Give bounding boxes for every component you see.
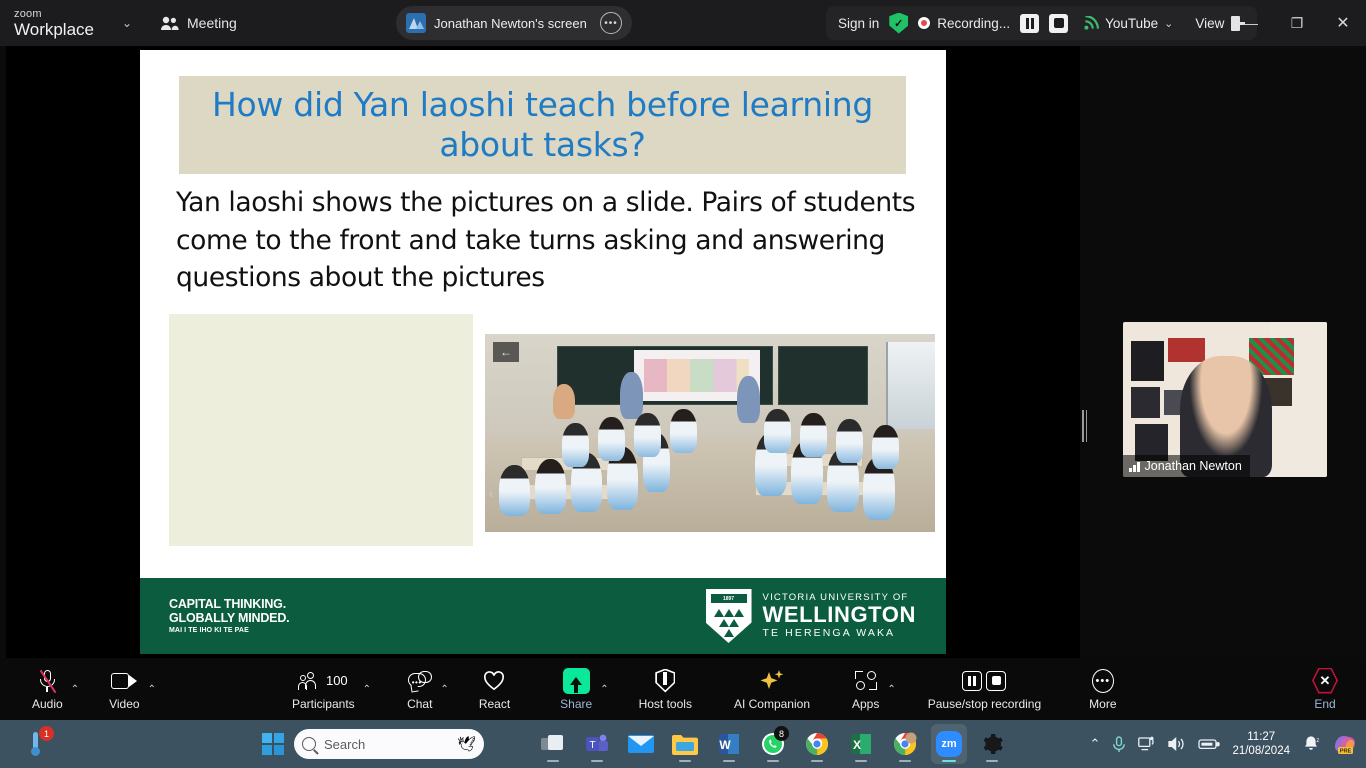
view-label: View: [1195, 16, 1224, 31]
whatsapp-badge: 8: [774, 726, 789, 741]
react-label: React: [479, 697, 510, 711]
windows-taskbar: 1 Search 🕊: [0, 720, 1366, 768]
youtube-label: YouTube: [1105, 16, 1158, 31]
classroom-photo: ← ‹: [485, 334, 935, 532]
clock-date: 21/08/2024: [1232, 745, 1290, 757]
taskbar-search-box[interactable]: Search 🕊: [294, 729, 484, 759]
clock-time: 11:27: [1247, 731, 1275, 743]
svg-text:T: T: [589, 740, 595, 751]
system-tray: ⌃: [1090, 730, 1358, 759]
taskbar-start-and-search: Search 🕊: [262, 729, 484, 759]
participants-options-chevron-icon[interactable]: ⌃: [359, 658, 375, 720]
end-x-glyph: ✕: [1320, 673, 1331, 689]
panel-drag-handle[interactable]: [1082, 410, 1088, 442]
excel-icon: X: [849, 732, 873, 756]
video-options-chevron-icon[interactable]: ⌃: [144, 658, 160, 720]
chat-button[interactable]: ••• Chat: [403, 658, 436, 720]
react-button[interactable]: React: [475, 658, 514, 720]
pause-recording-button[interactable]: [1020, 14, 1039, 33]
video-label: Video: [109, 697, 139, 711]
zoom-control-toolbar: Audio ⌃ Video ⌃ 100 Participants ⌃ ••• C…: [0, 658, 1366, 720]
audio-options-chevron-icon[interactable]: ⌃: [67, 658, 83, 720]
zoom-title-bar: zoom Workplace ⌄ Meeting Jonathan Newton…: [0, 0, 1366, 46]
shared-screen-region[interactable]: How did Yan laoshi teach before learning…: [6, 46, 1080, 658]
crest-year: 1897: [710, 593, 748, 604]
footer-tagline: CAPITAL THINKING. GLOBALLY MINDED. MAI I…: [169, 598, 289, 635]
chrome-profile-icon: [893, 732, 917, 756]
more-label: More: [1089, 697, 1116, 711]
start-button-icon[interactable]: [262, 733, 284, 755]
pause-stop-recording-icon: [962, 668, 1006, 694]
end-call-icon: ✕: [1312, 668, 1338, 694]
chevron-down-icon: ⌄: [1164, 17, 1173, 30]
classroom-photo-image: [485, 334, 935, 532]
record-dot-icon: [918, 17, 930, 29]
university-crest-icon: 1897: [706, 589, 752, 643]
photo-back-arrow-icon[interactable]: ←: [493, 342, 519, 362]
audio-button[interactable]: Audio: [28, 658, 67, 720]
security-shield-icon[interactable]: ✓: [889, 13, 908, 34]
meeting-label: Meeting: [187, 15, 237, 31]
teams-icon: T: [585, 732, 609, 756]
pause-stop-recording-label: Pause/stop recording: [928, 697, 1041, 711]
participants-icon: 100: [299, 668, 348, 694]
chevron-down-icon[interactable]: ⌄: [116, 10, 138, 36]
participant-name-badge: Jonathan Newton: [1123, 455, 1250, 477]
copilot-label: PRE: [1340, 749, 1352, 755]
share-thumbnail-icon: [406, 13, 426, 33]
apps-options-chevron-icon[interactable]: ⌃: [883, 658, 899, 720]
taskbar-app-task-view[interactable]: [535, 724, 571, 764]
audio-label: Audio: [32, 697, 63, 711]
presentation-slide: How did Yan laoshi teach before learning…: [140, 50, 946, 654]
end-label: End: [1314, 697, 1335, 711]
battery-icon[interactable]: [1198, 737, 1220, 751]
weather-widget-icon[interactable]: 1: [18, 727, 52, 761]
zoom-brand-line2: Workplace: [14, 21, 94, 38]
chrome-icon: [805, 732, 829, 756]
apps-button[interactable]: Apps: [848, 658, 883, 720]
signal-strength-icon: [1129, 461, 1140, 472]
shield-icon: [655, 668, 675, 694]
people-icon: [160, 16, 179, 31]
host-tools-label: Host tools: [639, 697, 692, 711]
gear-icon: [980, 732, 1004, 756]
slide-title-band: How did Yan laoshi teach before learning…: [179, 76, 906, 174]
taskbar-app-settings[interactable]: [975, 724, 1009, 764]
zoom-app-icon: zm: [936, 731, 962, 757]
share-options-chevron-icon[interactable]: ⌃: [596, 658, 612, 720]
network-icon[interactable]: [1138, 736, 1156, 752]
apps-icon: [854, 668, 878, 694]
svg-text:z: z: [1316, 738, 1319, 744]
screen-share-pill[interactable]: Jonathan Newton's screen •••: [396, 6, 632, 40]
titlebar-status-group: Sign in ✓ Recording... YouTube ⌄ View: [826, 6, 1257, 40]
task-view-icon: [541, 734, 565, 754]
slide-body-text: Yan laoshi shows the pictures on a slide…: [176, 184, 921, 297]
tagline-line3: MAI I TE IHO KI TE PAE: [169, 627, 289, 635]
pause-icon: [962, 671, 982, 691]
taskbar-clock[interactable]: 11:27 21/08/2024: [1232, 730, 1290, 759]
more-options-icon[interactable]: •••: [600, 12, 622, 34]
word-icon: W: [717, 732, 741, 756]
sparkles-icon: [759, 668, 785, 694]
chat-options-chevron-icon[interactable]: ⌃: [436, 658, 452, 720]
participant-video-thumbnail[interactable]: Jonathan Newton: [1123, 322, 1327, 477]
tagline-line2: GLOBALLY MINDED.: [169, 612, 289, 626]
zoom-logo: zoom Workplace: [14, 9, 94, 38]
broadcast-icon: [1084, 16, 1099, 30]
maximize-button[interactable]: ❐: [1274, 0, 1320, 46]
share-screen-button[interactable]: Share: [556, 658, 596, 720]
taskbar-app-zoom[interactable]: zm: [931, 724, 967, 764]
chat-dots: •••: [412, 678, 422, 687]
minimize-button[interactable]: —: [1228, 0, 1274, 46]
slide-footer: CAPITAL THINKING. GLOBALLY MINDED. MAI I…: [140, 578, 946, 654]
university-logo: 1897 VICTORIA UNIVERSITY OF WELLINGTON T…: [706, 589, 916, 643]
chat-label: Chat: [407, 697, 432, 711]
participants-count: 100: [326, 673, 348, 688]
search-icon: [302, 737, 316, 751]
tagline-line1: CAPITAL THINKING.: [169, 598, 289, 612]
ai-companion-button[interactable]: AI Companion: [730, 658, 814, 720]
host-tools-button[interactable]: Host tools: [635, 658, 696, 720]
share-label: Share: [560, 697, 592, 711]
camera-icon: [111, 668, 137, 694]
recording-status: Recording...: [918, 16, 1010, 31]
meeting-stage: How did Yan laoshi teach before learning…: [0, 46, 1366, 658]
volume-icon[interactable]: [1168, 736, 1186, 752]
share-pill-label: Jonathan Newton's screen: [434, 16, 592, 31]
microphone-icon[interactable]: [1112, 736, 1126, 753]
search-placeholder: Search: [324, 737, 449, 752]
participants-button[interactable]: 100 Participants: [288, 658, 359, 720]
stop-icon: [986, 671, 1006, 691]
close-button[interactable]: ✕: [1320, 0, 1366, 46]
taskbar-app-list: T W: [535, 724, 967, 764]
slide-title: How did Yan laoshi teach before learning…: [179, 85, 906, 166]
taskbar-app-chrome-profile[interactable]: [887, 724, 923, 764]
recording-label: Recording...: [937, 16, 1010, 31]
more-button[interactable]: ••• More: [1085, 658, 1120, 720]
taskbar-app-whatsapp[interactable]: 8: [755, 724, 791, 764]
zoom-meeting-window: zoom Workplace ⌄ Meeting Jonathan Newton…: [0, 0, 1366, 768]
apps-label: Apps: [852, 697, 879, 711]
taskbar-app-chrome[interactable]: [799, 724, 835, 764]
university-wordmark: VICTORIA UNIVERSITY OF WELLINGTON TE HER…: [763, 593, 916, 638]
participant-video-image: [1123, 322, 1327, 477]
stop-recording-button[interactable]: [1049, 14, 1068, 33]
microphone-muted-icon: [39, 668, 56, 694]
taskbar-app-word[interactable]: W: [711, 724, 747, 764]
taskbar-app-file-explorer[interactable]: [667, 724, 703, 764]
logo-line3: TE HERENGA WAKA: [763, 628, 916, 639]
svg-text:X: X: [853, 738, 861, 752]
copilot-glyph: PRE: [1332, 733, 1358, 755]
zoom-brand-line1: zoom: [14, 9, 94, 20]
taskbar-widgets[interactable]: 1: [18, 727, 52, 761]
window-controls: — ❐ ✕: [1228, 0, 1366, 46]
youtube-stream-button[interactable]: YouTube ⌄: [1084, 16, 1173, 31]
chat-icon: •••: [408, 668, 432, 694]
mail-icon: [628, 734, 654, 754]
svg-text:W: W: [719, 738, 731, 752]
taskbar-app-microsoft-teams[interactable]: T: [579, 724, 615, 764]
meeting-tab[interactable]: Meeting: [160, 15, 237, 31]
sign-in-button[interactable]: Sign in: [838, 16, 879, 31]
bird-icon: 🕊: [457, 735, 476, 753]
more-dots: •••: [1092, 669, 1114, 693]
pause-stop-recording-button[interactable]: Pause/stop recording: [924, 658, 1045, 720]
heart-icon: [483, 668, 505, 694]
notification-bell-icon[interactable]: z: [1302, 735, 1320, 753]
copilot-icon[interactable]: PRE: [1332, 733, 1358, 755]
more-ellipsis-icon: •••: [1092, 668, 1114, 694]
video-button[interactable]: Video: [105, 658, 143, 720]
slide-placeholder-box: [169, 314, 473, 546]
weather-badge: 1: [39, 726, 54, 741]
ai-companion-label: AI Companion: [734, 697, 810, 711]
participants-label: Participants: [292, 697, 355, 711]
logo-line2: WELLINGTON: [763, 603, 916, 626]
taskbar-app-excel[interactable]: X: [843, 724, 879, 764]
taskbar-app-mail[interactable]: [623, 724, 659, 764]
end-meeting-button[interactable]: ✕ End: [1308, 658, 1342, 720]
share-screen-icon: [563, 668, 590, 694]
tray-expand-chevron-icon[interactable]: ⌃: [1090, 736, 1101, 752]
participant-name: Jonathan Newton: [1145, 459, 1242, 473]
folder-icon: [672, 734, 698, 755]
photo-prev-chevron-icon[interactable]: ‹: [489, 486, 493, 501]
